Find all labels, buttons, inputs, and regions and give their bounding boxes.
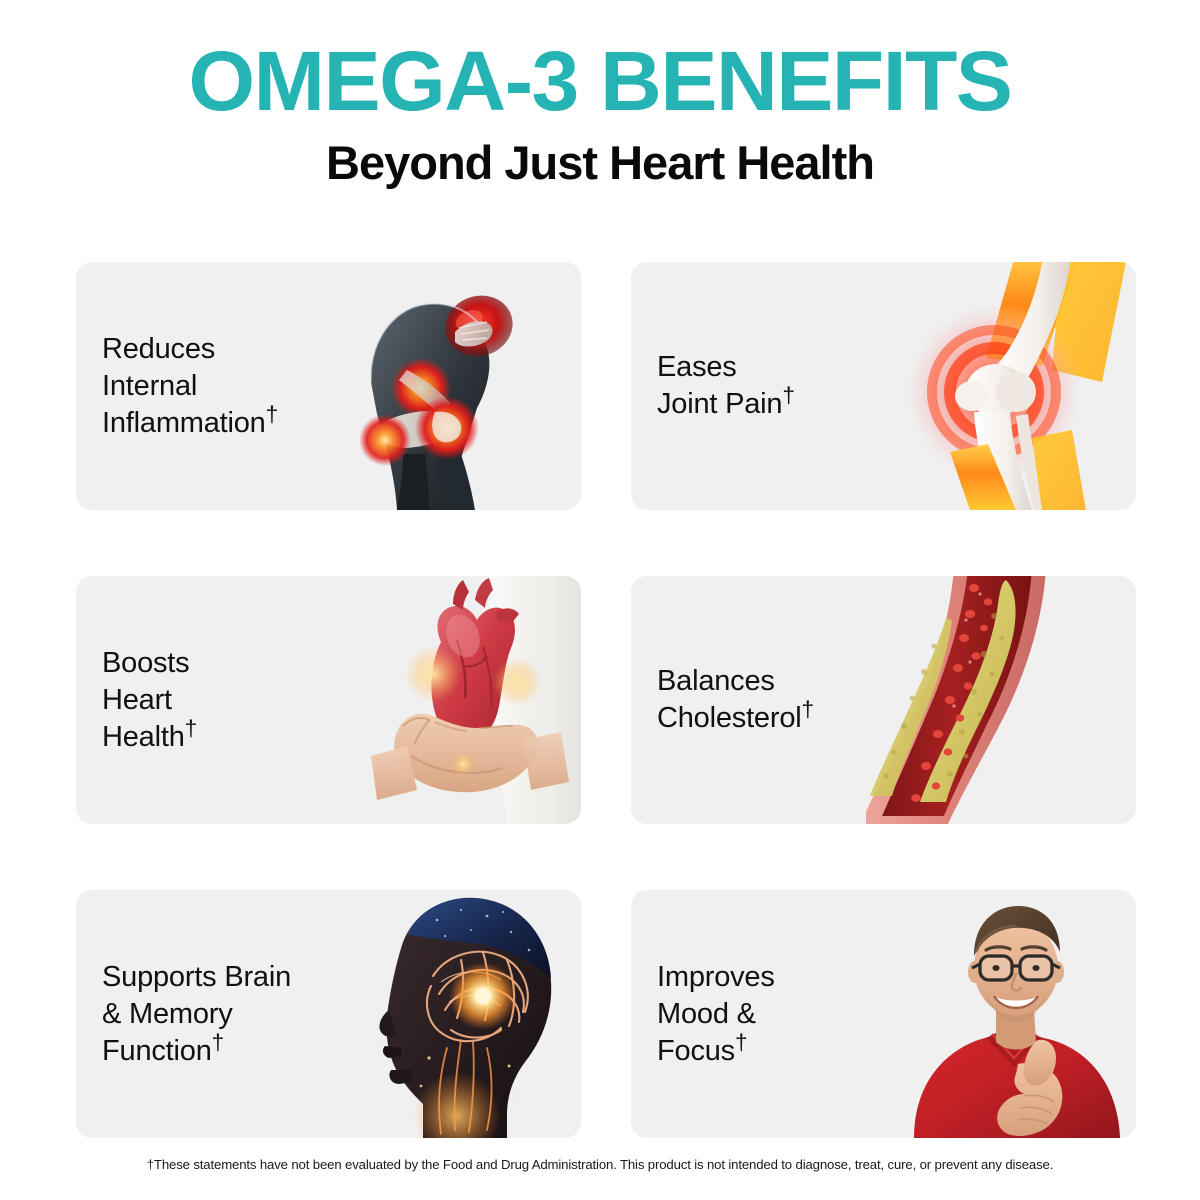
page-subtitle: Beyond Just Heart Health [0,138,1200,187]
dagger-symbol: † [185,715,197,740]
dagger-symbol: † [735,1029,747,1054]
infographic-page: OMEGA-3 BENEFITS Beyond Just Heart Healt… [0,0,1200,1200]
disclaimer-footer: †These statements have not been evaluate… [0,1156,1200,1174]
benefit-card-title: Improves Mood & Focus† [631,959,775,1070]
inflamed-body-figure-icon [311,262,581,510]
dagger-symbol: † [802,696,814,721]
benefit-card-title: Boosts Heart Health† [76,645,197,756]
benefit-card-title: Supports Brain & Memory Function† [76,959,291,1070]
smiling-man-thumbs-up-icon [866,890,1136,1138]
header: OMEGA-3 BENEFITS Beyond Just Heart Healt… [0,0,1200,187]
glowing-brain-silhouette-icon [311,890,581,1138]
benefit-card-improves-mood-focus[interactable]: Improves Mood & Focus† [631,890,1136,1138]
dagger-symbol: † [212,1029,224,1054]
dagger-symbol: † [782,382,794,407]
page-title: OMEGA-3 BENEFITS [0,42,1200,122]
benefit-card-reduces-internal-inflammation[interactable]: Reduces Internal Inflammation† [76,262,581,510]
benefit-card-title: Eases Joint Pain† [631,349,795,423]
dagger-symbol: † [266,401,278,426]
knee-joint-icon [866,262,1136,510]
hands-holding-heart-icon [311,576,581,824]
benefit-card-boosts-heart-health[interactable]: Boosts Heart Health† [76,576,581,824]
benefit-card-title: Reduces Internal Inflammation† [76,331,278,442]
benefit-card-balances-cholesterol[interactable]: Balances Cholesterol† [631,576,1136,824]
benefits-grid: Reduces Internal Inflammation† [76,262,1136,1138]
artery-cholesterol-plaque-icon [866,576,1136,824]
benefit-card-eases-joint-pain[interactable]: Eases Joint Pain† [631,262,1136,510]
benefit-card-title: Balances Cholesterol† [631,663,814,737]
benefit-card-supports-brain-memory-function[interactable]: Supports Brain & Memory Function† [76,890,581,1138]
